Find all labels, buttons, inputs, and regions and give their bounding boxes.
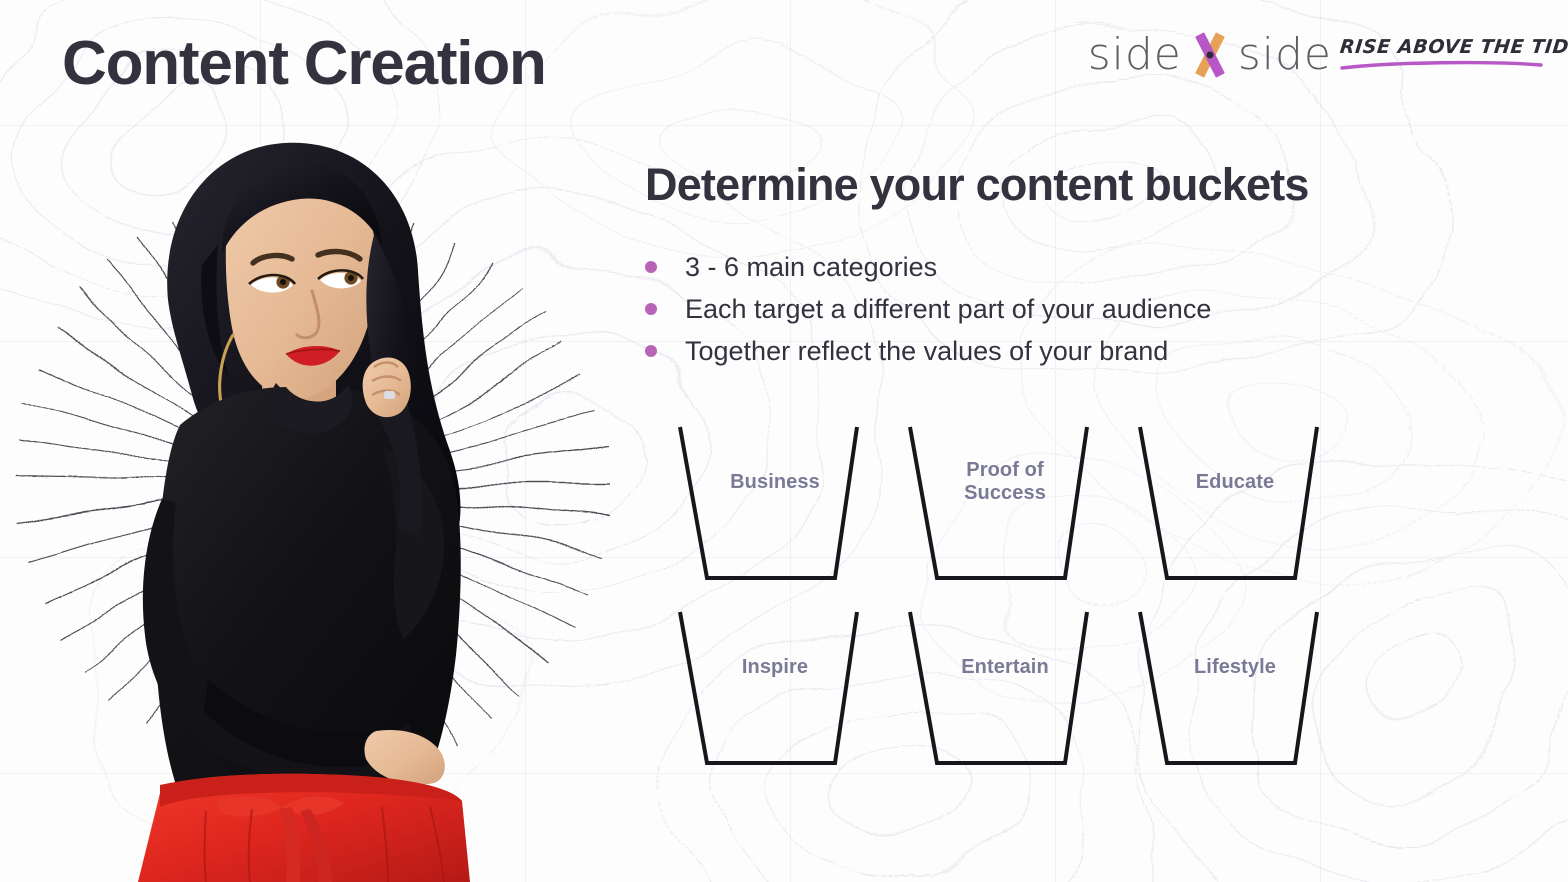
brand-x-icon bbox=[1184, 32, 1236, 78]
content-buckets-group: Business Proof of Success Educate bbox=[660, 415, 1350, 785]
bullet-dot-icon bbox=[645, 261, 657, 273]
bucket-label: Proof of Success bbox=[890, 459, 1120, 505]
content-bucket-proof-of-success: Proof of Success bbox=[890, 415, 1120, 600]
list-item: Each target a different part of your aud… bbox=[645, 288, 1211, 330]
bucket-label: Inspire bbox=[660, 656, 890, 679]
bucket-label: Entertain bbox=[890, 656, 1120, 679]
content-bucket-lifestyle: Lifestyle bbox=[1120, 600, 1350, 785]
bullet-text: Together reflect the values of your bran… bbox=[685, 338, 1168, 365]
bucket-shape-icon bbox=[890, 415, 1120, 600]
bucket-shape-icon bbox=[660, 415, 890, 600]
brand-logo: side side bbox=[1088, 32, 1332, 78]
bucket-shape-icon bbox=[1120, 415, 1350, 600]
bucket-label: Educate bbox=[1120, 471, 1350, 494]
brand-word-left: side bbox=[1088, 33, 1182, 77]
content-bucket-business: Business bbox=[660, 415, 890, 600]
page-title: Content Creation bbox=[62, 33, 546, 95]
bullet-list: 3 - 6 main categories Each target a diff… bbox=[645, 246, 1211, 372]
speaker-photo-block bbox=[0, 95, 610, 882]
bullet-dot-icon bbox=[645, 303, 657, 315]
bucket-shape-icon bbox=[1120, 600, 1350, 785]
slide-canvas: Content Creation side side RISE ABOVE TH… bbox=[0, 0, 1568, 882]
bullet-text: 3 - 6 main categories bbox=[685, 254, 937, 281]
bucket-label: Lifestyle bbox=[1120, 656, 1350, 679]
list-item: 3 - 6 main categories bbox=[645, 246, 1211, 288]
brand-word-right: side bbox=[1238, 33, 1332, 77]
bucket-label: Business bbox=[660, 471, 890, 494]
content-buckets-row-1: Business Proof of Success Educate bbox=[660, 415, 1350, 600]
brand-tagline-text: RISE ABOVE THE TIDE bbox=[1339, 36, 1545, 58]
bucket-shape-icon bbox=[660, 600, 890, 785]
content-bucket-inspire: Inspire bbox=[660, 600, 890, 785]
bullet-dot-icon bbox=[645, 345, 657, 357]
bucket-shape-icon bbox=[890, 600, 1120, 785]
content-bucket-educate: Educate bbox=[1120, 415, 1350, 600]
bullet-text: Each target a different part of your aud… bbox=[685, 296, 1211, 323]
tagline-underline-icon bbox=[1340, 60, 1544, 71]
page-headline: Determine your content buckets bbox=[645, 160, 1309, 210]
content-bucket-entertain: Entertain bbox=[890, 600, 1120, 785]
list-item: Together reflect the values of your bran… bbox=[645, 330, 1211, 372]
brand-tagline: RISE ABOVE THE TIDE bbox=[1340, 36, 1544, 76]
speaker-photo bbox=[0, 95, 610, 882]
content-buckets-row-2: Inspire Entertain Lifestyle bbox=[660, 600, 1350, 785]
